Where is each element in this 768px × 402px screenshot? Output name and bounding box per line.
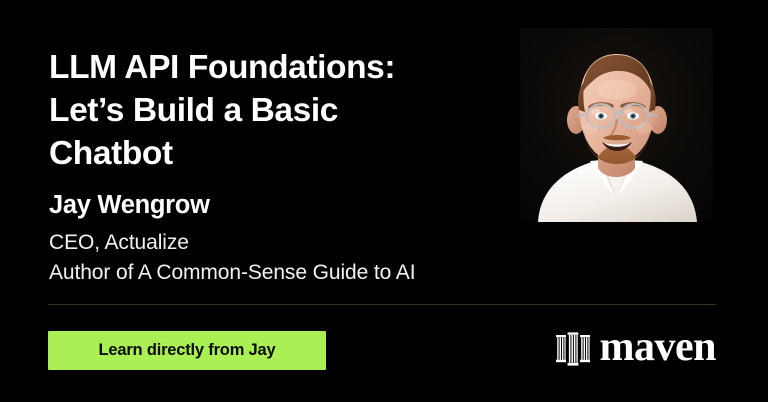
learn-directly-button[interactable]: Learn directly from Jay <box>48 331 326 370</box>
page-title: LLM API Foundations: Let’s Build a Basic… <box>49 46 499 175</box>
three-columns-icon <box>555 331 591 367</box>
speaker-role: CEO, Actualize <box>49 228 189 258</box>
speaker-name: Jay Wengrow <box>49 190 210 220</box>
maven-logo[interactable]: maven <box>555 325 717 373</box>
maven-wordmark: maven <box>600 326 717 368</box>
event-promo-card: LLM API Foundations: Let’s Build a Basic… <box>0 0 768 402</box>
speaker-credential: Author of A Common-Sense Guide to AI <box>49 258 415 288</box>
portrait-illustration <box>520 28 713 222</box>
speaker-portrait <box>520 28 713 222</box>
section-divider <box>48 304 716 305</box>
learn-directly-button-label: Learn directly from Jay <box>99 341 276 360</box>
